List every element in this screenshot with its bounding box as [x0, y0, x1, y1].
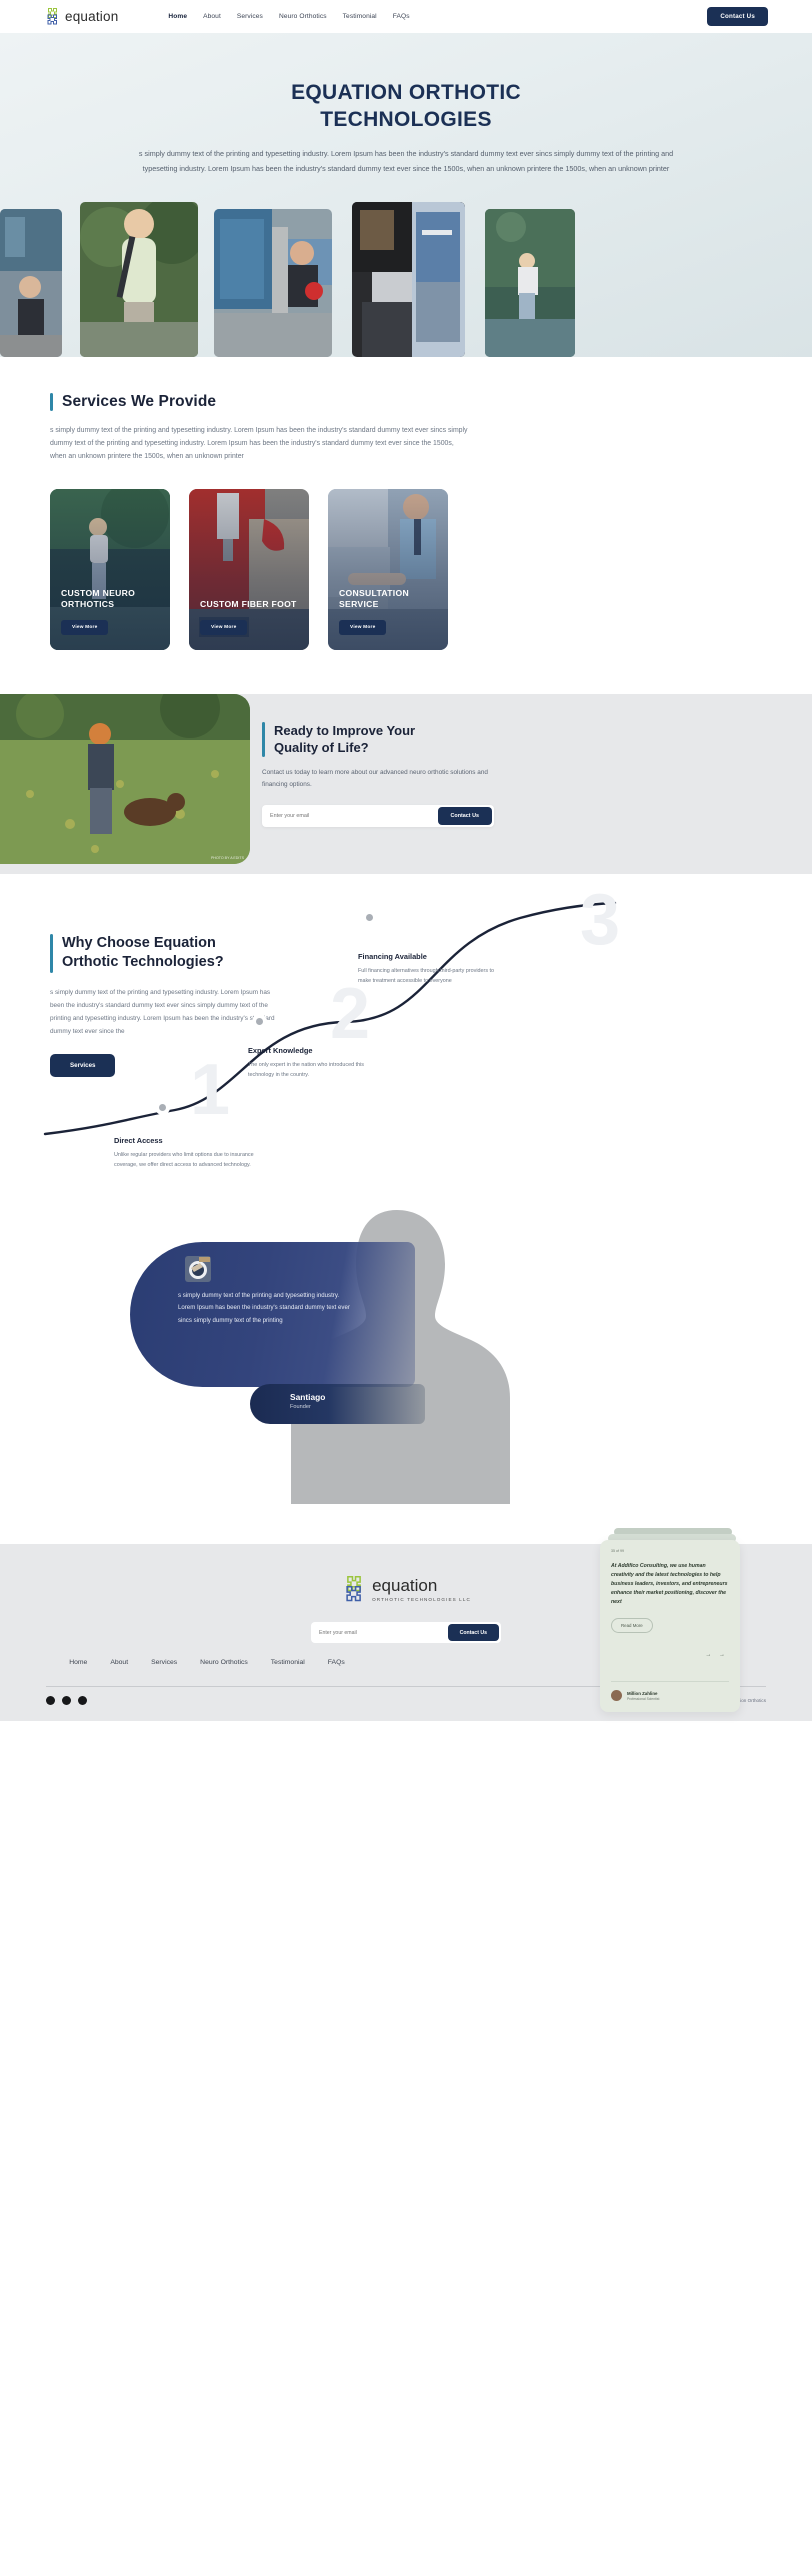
timeline-dot-3 [362, 910, 377, 925]
nav-item-about[interactable]: About [203, 13, 221, 20]
review-card-person: Million Zahline Professional Scientist [611, 1690, 659, 1701]
services-section: Services We Provide s simply dummy text … [0, 357, 812, 650]
review-read-more-button[interactable]: Read More [611, 1618, 653, 1633]
review-person-name: Million Zahline [627, 1691, 659, 1696]
accent-bar [50, 393, 53, 411]
footer-contact-us-button[interactable]: Contact Us [448, 1624, 499, 1641]
service-card-consultation-service[interactable]: CONSULTATION SERVICE View More [328, 489, 448, 650]
hero-image-strip [0, 202, 812, 357]
cta-email-input[interactable] [270, 813, 438, 819]
services-card-list: CUSTOM NEURO ORTHOTICS View More [50, 489, 762, 650]
footer-link-services[interactable]: Services [151, 1659, 177, 1666]
footer-email-input[interactable] [319, 1630, 448, 1636]
why-point-text: Full financing alternatives through thir… [358, 966, 500, 986]
service-card-custom-neuro-orthotics[interactable]: CUSTOM NEURO ORTHOTICS View More [50, 489, 170, 650]
hero-photo-3 [214, 209, 332, 357]
cta-contact-us-button[interactable]: Contact Us [438, 807, 492, 825]
service-card-title: CUSTOM NEURO ORTHOTICS [61, 588, 160, 611]
accent-bar [50, 934, 53, 972]
brand-logo[interactable]: equation [44, 7, 118, 26]
timeline-dot-1 [155, 1100, 170, 1115]
why-point-text: The only expert in the nation who introd… [248, 1060, 390, 1080]
review-card[interactable]: 35 of 99 At Addifico Consulting, we use … [600, 1540, 740, 1712]
why-point-title: Expert Knowledge [248, 1046, 390, 1055]
why-point-financing-available: Financing Available Full financing alter… [358, 952, 500, 986]
top-navbar: equation Home About Services Neuro Ortho… [0, 0, 812, 33]
instagram-icon[interactable] [62, 1696, 71, 1705]
nav-contact-us-button[interactable]: Contact Us [707, 7, 768, 26]
nav-links: Home About Services Neuro Orthotics Test… [168, 13, 409, 20]
why-point-expert-knowledge: Expert Knowledge The only expert in the … [248, 1046, 390, 1080]
service-view-more-button[interactable]: View More [200, 620, 247, 635]
footer-section: 35 of 99 At Addifico Consulting, we use … [0, 1544, 812, 1721]
cta-title: Ready to Improve Your Quality of Life? [274, 722, 415, 756]
cta-content: Ready to Improve Your Quality of Life? C… [262, 722, 682, 826]
card-body: CONSULTATION SERVICE View More [339, 588, 438, 636]
hero-photo-1 [0, 209, 62, 357]
cta-title-line1: Ready to Improve Your [274, 722, 415, 739]
why-point-title: Direct Access [114, 1136, 256, 1145]
footer-email-form: Contact Us [311, 1622, 501, 1643]
social-links [46, 1696, 87, 1705]
linkedin-icon[interactable] [78, 1696, 87, 1705]
service-view-more-button[interactable]: View More [61, 620, 108, 635]
footer-link-home[interactable]: Home [69, 1659, 87, 1666]
testimonial-author-name: Santiago [290, 1392, 425, 1402]
cta-heading-row: Ready to Improve Your Quality of Life? [262, 722, 682, 756]
nav-item-home[interactable]: Home [168, 13, 187, 20]
hero-photo-4 [352, 202, 465, 357]
footer-brand-name: equation [372, 1577, 471, 1594]
hero-title: EQUATION ORTHOTIC TECHNOLOGIES [0, 33, 812, 134]
card-body: CUSTOM NEURO ORTHOTICS View More [61, 588, 160, 636]
card-body: CUSTOM FIBER FOOT View More [200, 599, 299, 635]
ghost-number-2: 2 [330, 986, 367, 1044]
why-text: s simply dummy text of the printing and … [50, 986, 280, 1039]
service-card-title: CUSTOM FIBER FOOT [200, 599, 299, 610]
services-intro: s simply dummy text of the printing and … [50, 425, 470, 463]
avatar [611, 1690, 622, 1701]
review-card-quote: At Addifico Consulting, we use human cre… [611, 1562, 729, 1606]
hero-photo-2 [80, 202, 198, 357]
nav-item-testimonial[interactable]: Testimonial [343, 13, 377, 20]
review-card-arrows[interactable]: → → [705, 1652, 728, 1658]
ghost-number-1: 1 [190, 1062, 227, 1120]
footer-link-neuro-orthotics[interactable]: Neuro Orthotics [200, 1659, 248, 1666]
hero-title-line2: TECHNOLOGIES [0, 107, 812, 134]
nav-item-neuro-orthotics[interactable]: Neuro Orthotics [279, 13, 327, 20]
testimonial-author-pill: Santiago Founder [250, 1384, 425, 1424]
facebook-icon[interactable] [46, 1696, 55, 1705]
hero-title-line1: EQUATION ORTHOTIC [0, 80, 812, 107]
cta-photo-credit: PHOTO BY A EDITS [211, 856, 244, 860]
service-view-more-button[interactable]: View More [339, 620, 386, 635]
cta-email-form: Contact Us [262, 805, 494, 827]
review-card-stack: 35 of 99 At Addifico Consulting, we use … [600, 1522, 740, 1722]
footer-link-testimonial[interactable]: Testimonial [271, 1659, 305, 1666]
testimonial-author-role: Founder [290, 1404, 425, 1410]
why-title-line2: Orthotic Technologies? [62, 953, 224, 972]
review-person-role: Professional Scientist [627, 1697, 659, 1701]
accent-bar [262, 722, 265, 756]
review-card-divider [611, 1681, 729, 1682]
footer-link-about[interactable]: About [110, 1659, 128, 1666]
cpo-certified-badge-icon [185, 1256, 211, 1282]
services-heading: Services We Provide [62, 393, 216, 411]
nav-item-services[interactable]: Services [237, 13, 263, 20]
testimonial-section: s simply dummy text of the printing and … [0, 1204, 812, 1544]
footer-link-faqs[interactable]: FAQs [328, 1659, 345, 1666]
service-card-title: CONSULTATION SERVICE [339, 588, 438, 611]
cta-section: PHOTO BY A EDITS Ready to Improve Your Q… [0, 694, 812, 874]
brand-name: equation [65, 9, 118, 24]
hero-photo-5 [485, 209, 575, 357]
footer-links: Home About Services Neuro Orthotics Test… [42, 1659, 372, 1666]
landing-page: equation Home About Services Neuro Ortho… [0, 0, 812, 1721]
why-point-text: Unlike regular providers who limit optio… [114, 1150, 256, 1170]
footer-brand-subtitle: ORTHOTIC TECHNOLOGIES LLC [372, 1597, 471, 1602]
services-heading-row: Services We Provide [50, 393, 762, 411]
nav-item-faqs[interactable]: FAQs [393, 13, 410, 20]
testimonial-quote: s simply dummy text of the printing and … [178, 1290, 356, 1327]
cta-text: Contact us today to learn more about our… [262, 767, 512, 792]
why-services-button[interactable]: Services [50, 1054, 115, 1077]
hero-section: EQUATION ORTHOTIC TECHNOLOGIES s simply … [0, 33, 812, 357]
service-card-custom-fiber-foot[interactable]: CUSTOM FIBER FOOT View More [189, 489, 309, 650]
equation-logo-icon [341, 1574, 367, 1604]
why-point-direct-access: Direct Access Unlike regular providers w… [114, 1136, 256, 1170]
hero-subtitle: s simply dummy text of the printing and … [136, 147, 676, 177]
why-title-line1: Why Choose Equation [62, 934, 224, 953]
equation-logo-icon [44, 7, 61, 26]
ghost-number-3: 3 [580, 892, 617, 950]
cta-title-line2: Quality of Life? [274, 739, 415, 756]
cta-image: PHOTO BY A EDITS [0, 694, 250, 864]
why-point-title: Financing Available [358, 952, 500, 961]
why-title: Why Choose Equation Orthotic Technologie… [62, 934, 224, 972]
review-card-counter: 35 of 99 [611, 1549, 729, 1553]
why-choose-section: 1 2 3 Why Choose Equation Orthotic Techn… [0, 874, 812, 1204]
